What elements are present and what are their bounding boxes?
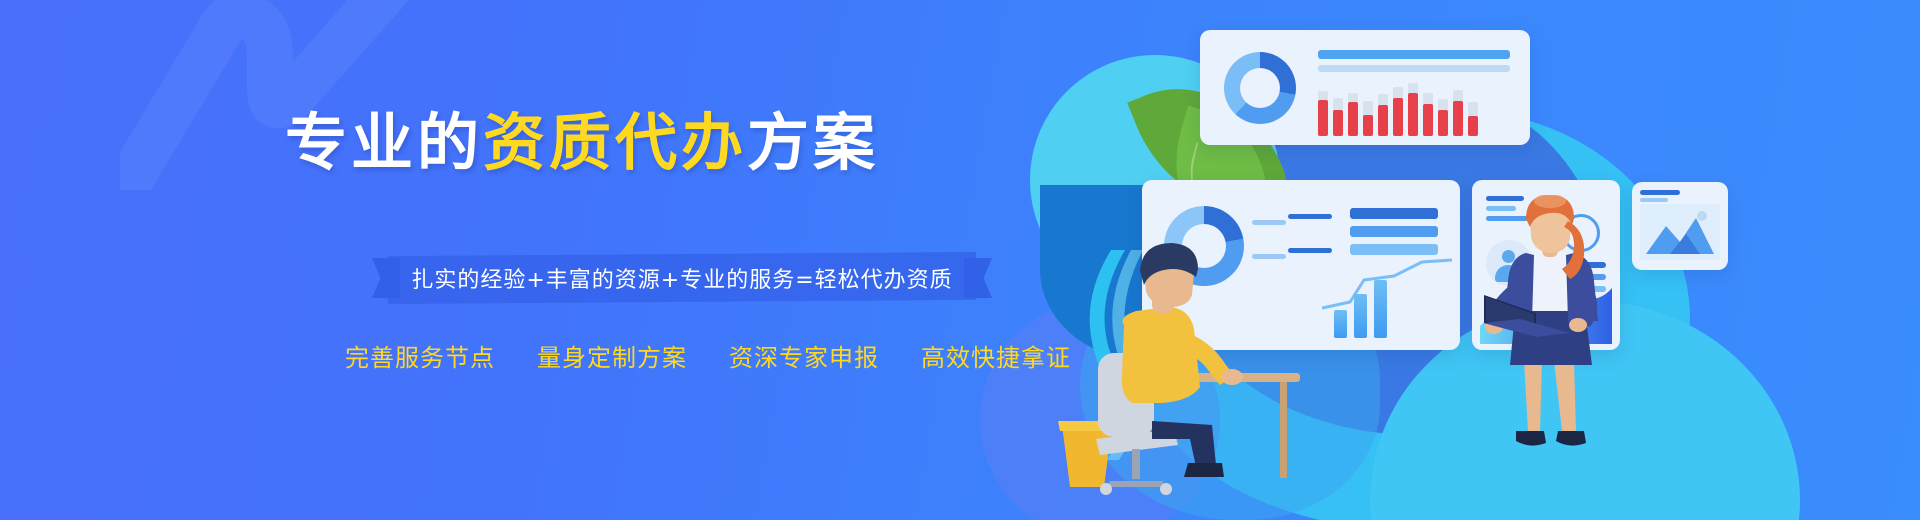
man-at-desk-illustration (1040, 225, 1300, 495)
headline-part-2: 资质代办 (483, 106, 747, 179)
mini-bar-chart (1334, 276, 1387, 338)
bar (1374, 280, 1387, 338)
list-row (1350, 208, 1438, 219)
headline-part-1: 专业的 (285, 106, 483, 179)
bar-column (1363, 78, 1373, 136)
ribbon-body: 扎实的经验+丰富的资源+专业的服务=轻松代办资质 (388, 252, 976, 304)
bar-column (1393, 78, 1403, 136)
feature-tag: 资深专家申报 (729, 338, 879, 373)
subtitle-ribbon: 扎实的经验+丰富的资源+专业的服务=轻松代办资质 (372, 252, 992, 304)
bar-column (1318, 78, 1328, 136)
bar-column (1423, 78, 1433, 136)
bar-column (1348, 78, 1358, 136)
bar-column (1408, 78, 1418, 136)
copy-block: 专业的资质代办方案 扎实的经验+丰富的资源+专业的服务=轻松代办资质 完善服务节… (0, 0, 1060, 520)
page-title: 专业的资质代办方案 (285, 112, 879, 174)
donut-chart-icon (1224, 52, 1296, 124)
headline-part-3: 方案 (747, 106, 879, 179)
red-bar-chart (1318, 78, 1513, 136)
bar-column (1468, 78, 1478, 136)
bar (1334, 310, 1347, 338)
title-bar-secondary (1318, 65, 1510, 72)
list-row (1350, 244, 1438, 255)
legend-bar (1288, 214, 1332, 219)
dashboard-card-top (1200, 30, 1530, 145)
subtitle-text: 扎实的经验+丰富的资源+专业的服务=轻松代办资质 (411, 262, 952, 294)
list-row (1350, 226, 1438, 237)
bar-column (1378, 78, 1388, 136)
mountain-chart-icon (1640, 204, 1720, 260)
promo-banner: 专业的资质代办方案 扎实的经验+丰富的资源+专业的服务=轻松代办资质 完善服务节… (0, 0, 1920, 520)
feature-tag: 完善服务节点 (345, 338, 495, 373)
feature-tag: 量身定制方案 (537, 338, 687, 373)
bar-column (1438, 78, 1448, 136)
bar (1354, 294, 1367, 338)
woman-with-laptop-illustration (1450, 195, 1650, 475)
title-bar-primary (1318, 50, 1510, 59)
business-analytics-illustration (1060, 0, 1760, 520)
feature-tag-list: 完善服务节点 量身定制方案 资深专家申报 高效快捷拿证 (345, 338, 1071, 373)
bar-column (1333, 78, 1343, 136)
bar-column (1453, 78, 1463, 136)
